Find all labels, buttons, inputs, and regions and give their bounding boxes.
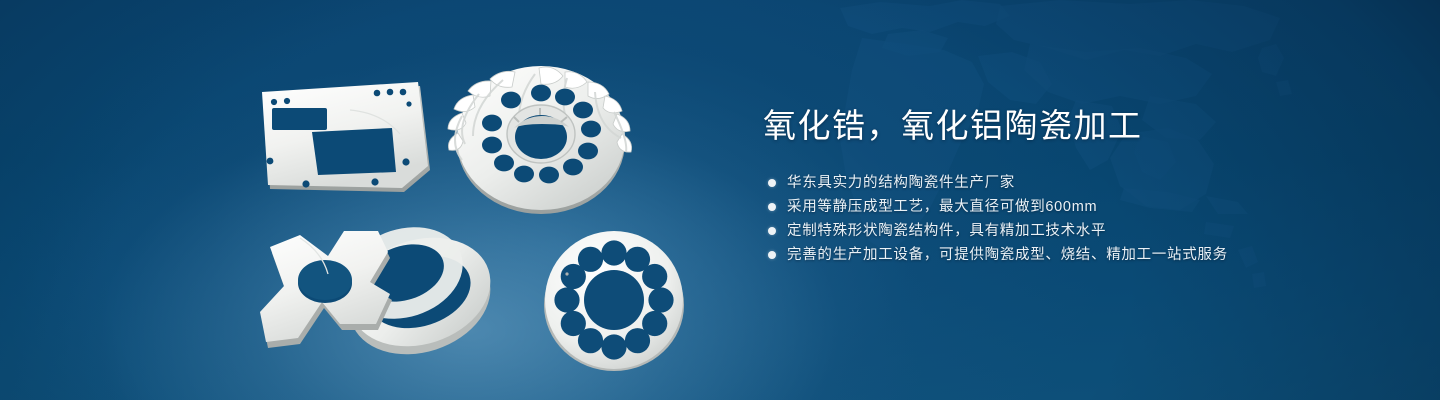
ceramic-perforated-disc-part <box>544 231 684 371</box>
list-item-label: 采用等静压成型工艺，最大直径可做到600mm <box>787 196 1097 218</box>
page-title: 氧化锆，氧化铝陶瓷加工 <box>763 104 1383 148</box>
ceramic-impeller-part <box>448 66 632 214</box>
list-item: 华东具实力的结构陶瓷件生产厂家 <box>763 172 1383 195</box>
bullet-dot-icon <box>768 251 776 259</box>
promo-banner: 氧化锆，氧化铝陶瓷加工 华东具实力的结构陶瓷件生产厂家 采用等静压成型工艺，最大… <box>0 0 1440 400</box>
list-item: 定制特殊形状陶瓷结构件，具有精加工技术水平 <box>763 220 1383 243</box>
list-item-label: 完善的生产加工设备，可提供陶瓷成型、烧结、精加工一站式服务 <box>787 244 1228 266</box>
ceramic-plate-part <box>262 82 430 192</box>
list-item: 采用等静压成型工艺，最大直径可做到600mm <box>763 196 1383 219</box>
ceramic-products-image <box>0 0 740 400</box>
banner-copy: 氧化锆，氧化铝陶瓷加工 华东具实力的结构陶瓷件生产厂家 采用等静压成型工艺，最大… <box>763 104 1383 267</box>
bullet-dot-icon <box>768 179 776 187</box>
bullet-dot-icon <box>768 203 776 211</box>
feature-list: 华东具实力的结构陶瓷件生产厂家 采用等静压成型工艺，最大直径可做到600mm 定… <box>763 172 1383 267</box>
list-item-label: 定制特殊形状陶瓷结构件，具有精加工技术水平 <box>787 220 1106 242</box>
list-item: 完善的生产加工设备，可提供陶瓷成型、烧结、精加工一站式服务 <box>763 244 1383 267</box>
bullet-dot-icon <box>768 227 776 235</box>
list-item-label: 华东具实力的结构陶瓷件生产厂家 <box>787 172 1015 194</box>
